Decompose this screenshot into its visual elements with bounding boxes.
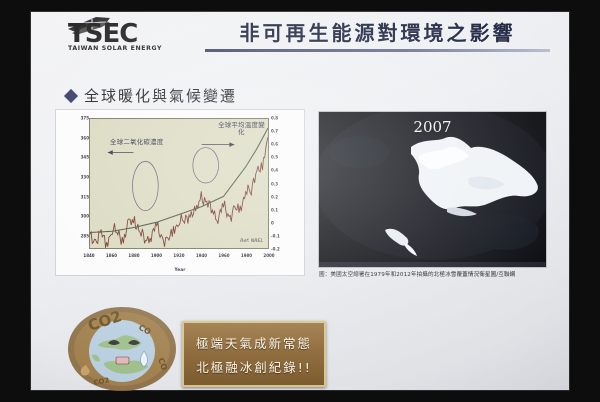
axis-tick-label: 0.3 (271, 181, 278, 186)
diamond-bullet-icon (64, 88, 78, 102)
chart-x-axis-label: Year (56, 268, 304, 273)
co2-temperature-chart: Concentration of CO2 (ppmv) Change in av… (56, 110, 304, 275)
axis-tick-label: 1900 (151, 253, 162, 258)
axis-tick-label: 0.2 (271, 194, 278, 199)
axis-tick-label: 0 (271, 220, 274, 225)
page-title: 非可再生能源對環境之影響 (205, 17, 550, 46)
axis-tick-label: 0.7 (271, 129, 278, 134)
axis-tick-label: 1920 (173, 253, 184, 258)
axis-tick-label: 300 (81, 214, 89, 219)
axis-tick-label: 345 (81, 155, 89, 160)
axis-tick-label: 1960 (218, 253, 229, 258)
axis-tick-label: 1860 (106, 253, 117, 258)
temperature-arrow-head (229, 142, 234, 147)
title-underline (205, 49, 550, 52)
chart-annotation-temperature: 全球平均溫度變化 (215, 122, 268, 136)
presentation-slide: TSEC TAIWAN SOLAR ENERGY 非可再生能源對環境之影響 全球… (30, 11, 570, 391)
highlight-plaque: 極端天氣成新常態 北極融冰創紀錄!! (182, 321, 326, 387)
axis-tick-label: 285 (81, 233, 89, 238)
logo-subtitle: TAIWAN SOLAR ENERGY (68, 45, 162, 52)
arctic-satellite-photo: 2007 (319, 112, 546, 267)
chart-y-axis-ticks: 375360345330315300285 (62, 118, 90, 249)
axis-tick-label: 0.8 (271, 116, 278, 121)
axis-tick-label: 360 (81, 135, 89, 140)
axis-tick-label: 330 (81, 174, 89, 179)
photo-caption: 圖：美國太空總署在1979年和2012年拍攝的北極冰雪覆蓋情況衛星圖/互聯網 (319, 270, 600, 278)
bullet-item: 全球暖化與氣候變遷 (66, 85, 237, 106)
chart-y2-axis-ticks: 0.80.70.60.50.40.30.20.10-0.1-0.2 (270, 118, 298, 249)
axis-tick-label: 0.1 (271, 207, 278, 212)
axis-tick-label: 2000 (263, 253, 274, 258)
photo-year-label: 2007 (319, 118, 546, 136)
co2-blanket-earth-cartoon: CO2 CO CO CO2 (66, 305, 178, 391)
axis-tick-label: 0.4 (271, 168, 278, 173)
axis-tick-label: 1980 (241, 253, 252, 258)
earth-with-co2-blanket-icon: CO2 CO CO CO2 (66, 305, 178, 391)
chart-source-note: Ref: NREL (240, 239, 263, 244)
axis-tick-label: 1840 (83, 253, 94, 258)
bullet-label: 全球暖化與氣候變遷 (84, 85, 237, 106)
chart-plot-area: 全球二氧化碳濃度 全球平均溫度變化 Ref: NREL (89, 118, 269, 249)
plaque-line-1: 極端天氣成新常態 (196, 333, 312, 352)
chart-x-axis-ticks: 184018601880190019201940196019802000 (89, 253, 269, 261)
temperature-series (90, 137, 268, 248)
axis-tick-label: -0.2 (271, 247, 280, 252)
plaque-line-2: 北極融冰創紀錄!! (196, 357, 312, 376)
axis-tick-label: 1940 (196, 253, 207, 258)
axis-tick-label: 375 (81, 116, 89, 121)
tsec-logo: TSEC TAIWAN SOLAR ENERGY (68, 17, 198, 61)
axis-tick-label: 0.6 (271, 142, 278, 147)
axis-tick-label: 0.5 (271, 155, 278, 160)
co2-arrow-head (108, 150, 113, 155)
photo-frame: TSEC TAIWAN SOLAR ENERGY 非可再生能源對環境之影響 全球… (0, 0, 600, 402)
chart-annotation-co2: 全球二氧化碳濃度 (110, 139, 164, 146)
temperature-circle-marker (193, 148, 219, 183)
slide-header: 非可再生能源對環境之影響 (205, 17, 550, 52)
co2-circle-marker (133, 161, 159, 210)
axis-tick-label: 1880 (128, 253, 139, 258)
axis-tick-label: 315 (81, 194, 89, 199)
axis-tick-label: -0.1 (271, 233, 280, 238)
